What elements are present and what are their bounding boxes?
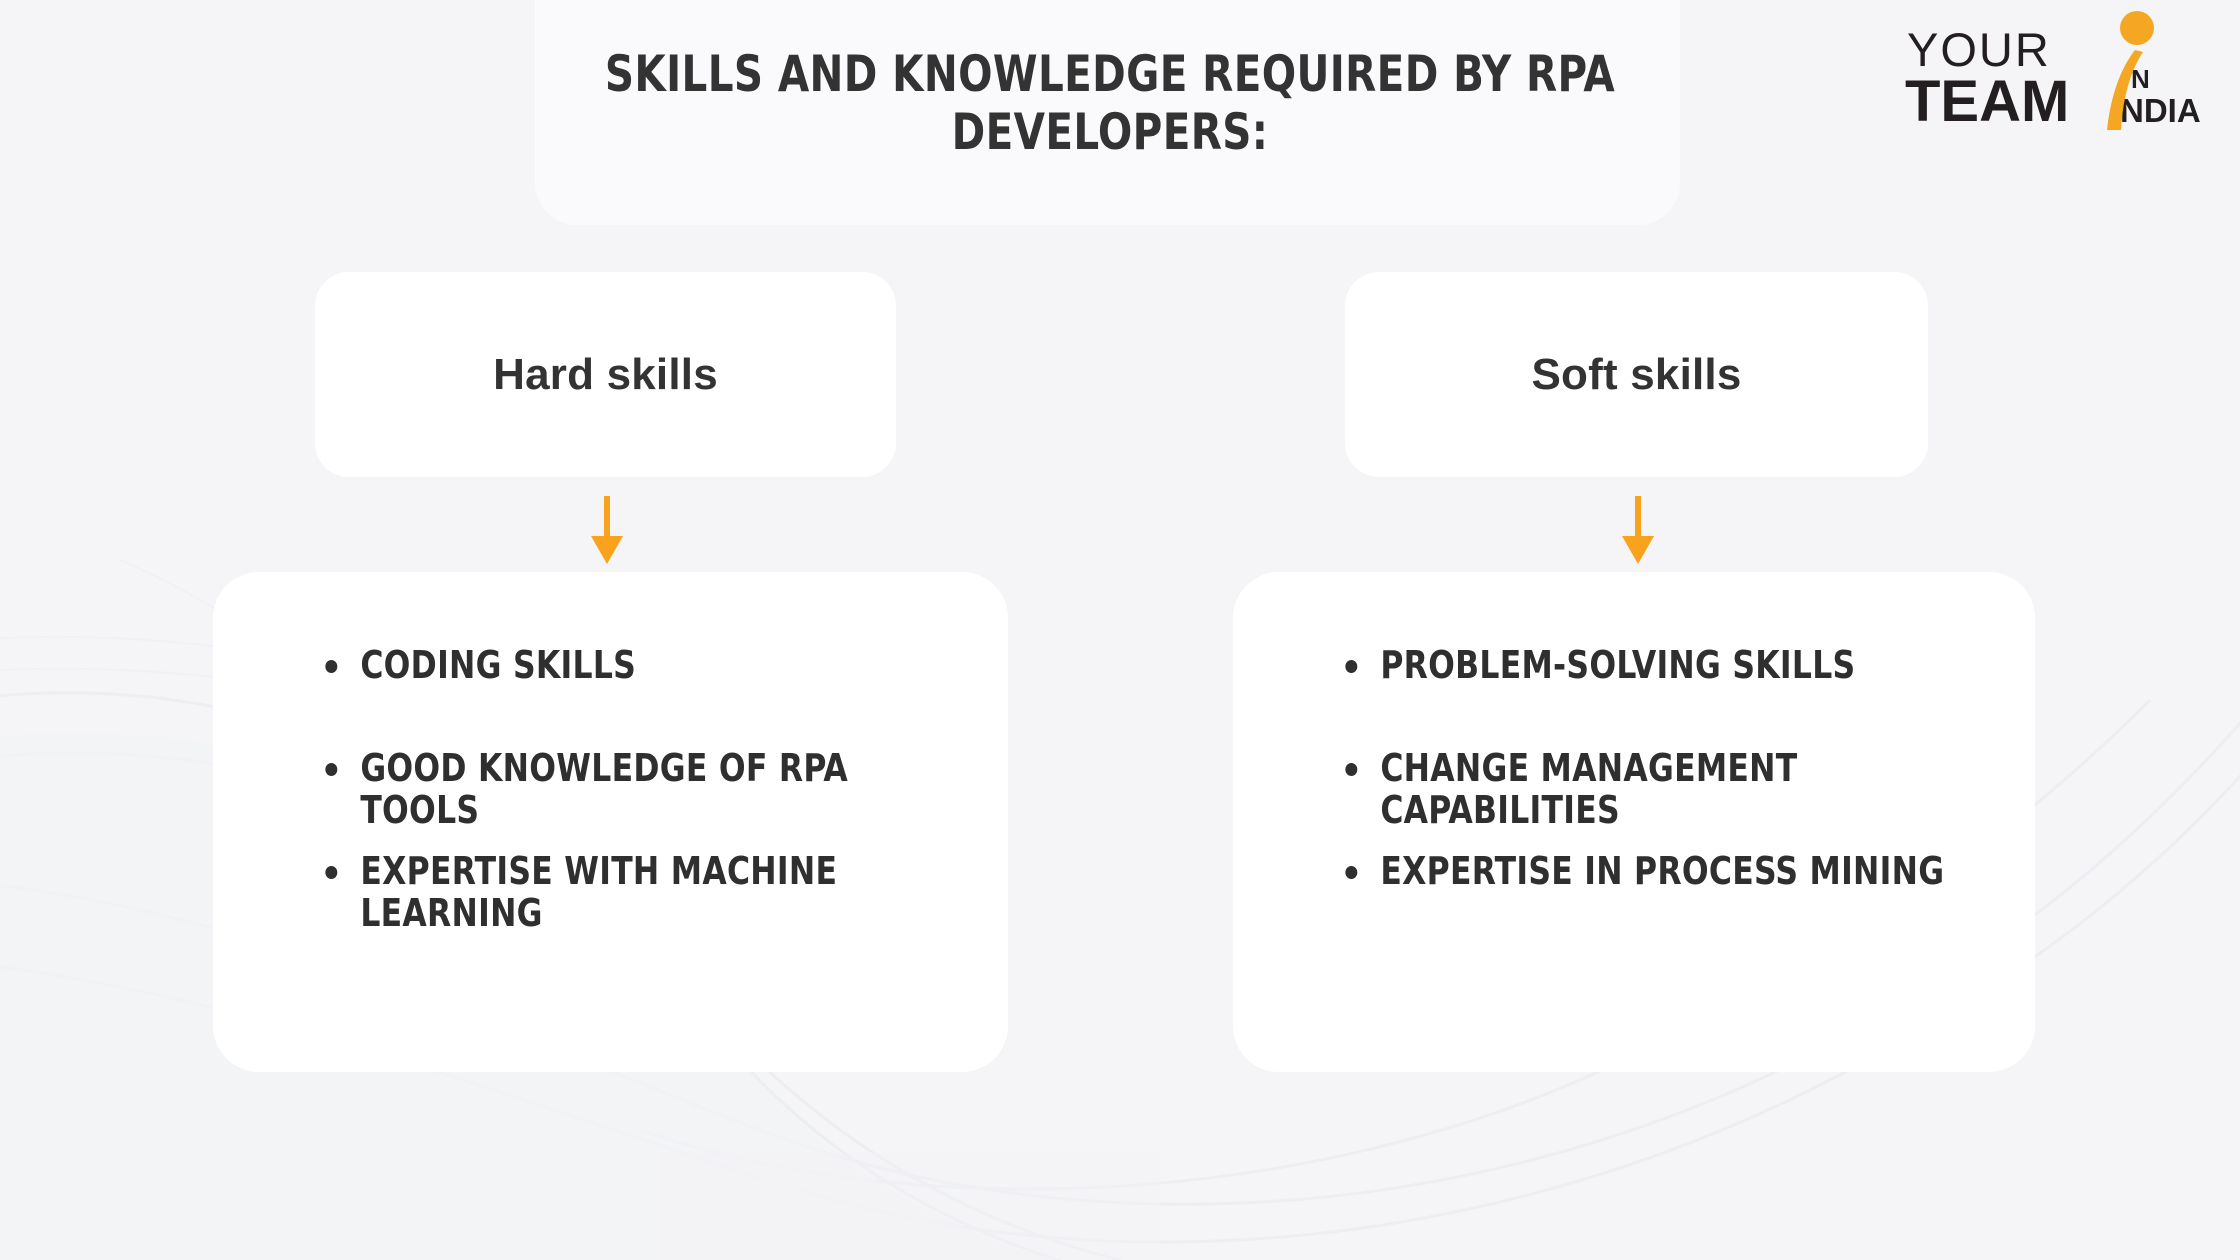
- list-item: CHANGE MANAGEMENT CAPABILITIES: [1338, 747, 1945, 832]
- list-item: EXPERTISE WITH MACHINE LEARNING: [318, 850, 870, 935]
- hard-skills-list: CODING SKILLS GOOD KNOWLEDGE OF RPA TOOL…: [318, 644, 918, 935]
- hard-skills-header-card[interactable]: Hard skills: [315, 272, 896, 477]
- logo-text-team: TEAM: [1905, 68, 2069, 135]
- soft-skills-header-card[interactable]: Soft skills: [1345, 272, 1928, 477]
- down-arrow-icon-hard-skills: [583, 496, 631, 566]
- list-item: EXPERTISE IN PROCESS MINING: [1338, 850, 1945, 893]
- list-item: GOOD KNOWLEDGE OF RPA TOOLS: [318, 747, 870, 832]
- down-arrow-icon-soft-skills: [1614, 496, 1662, 566]
- brand-logo: YOUR TEAM N NDIA: [1895, 6, 2215, 136]
- soft-skills-list: PROBLEM-SOLVING SKILLS CHANGE MANAGEMENT…: [1338, 644, 1998, 892]
- page-title: SKILLS AND KNOWLEDGE REQUIRED BY RPA DEV…: [507, 46, 1713, 161]
- hard-skills-content-card: CODING SKILLS GOOD KNOWLEDGE OF RPA TOOL…: [213, 572, 1008, 1072]
- person-i-icon: [2091, 8, 2171, 138]
- list-item: PROBLEM-SOLVING SKILLS: [1338, 644, 1945, 687]
- soft-skills-content-card: PROBLEM-SOLVING SKILLS CHANGE MANAGEMENT…: [1233, 572, 2035, 1072]
- list-item: CODING SKILLS: [318, 644, 870, 687]
- soft-skills-heading: Soft skills: [1531, 350, 1741, 400]
- hard-skills-heading: Hard skills: [493, 350, 718, 400]
